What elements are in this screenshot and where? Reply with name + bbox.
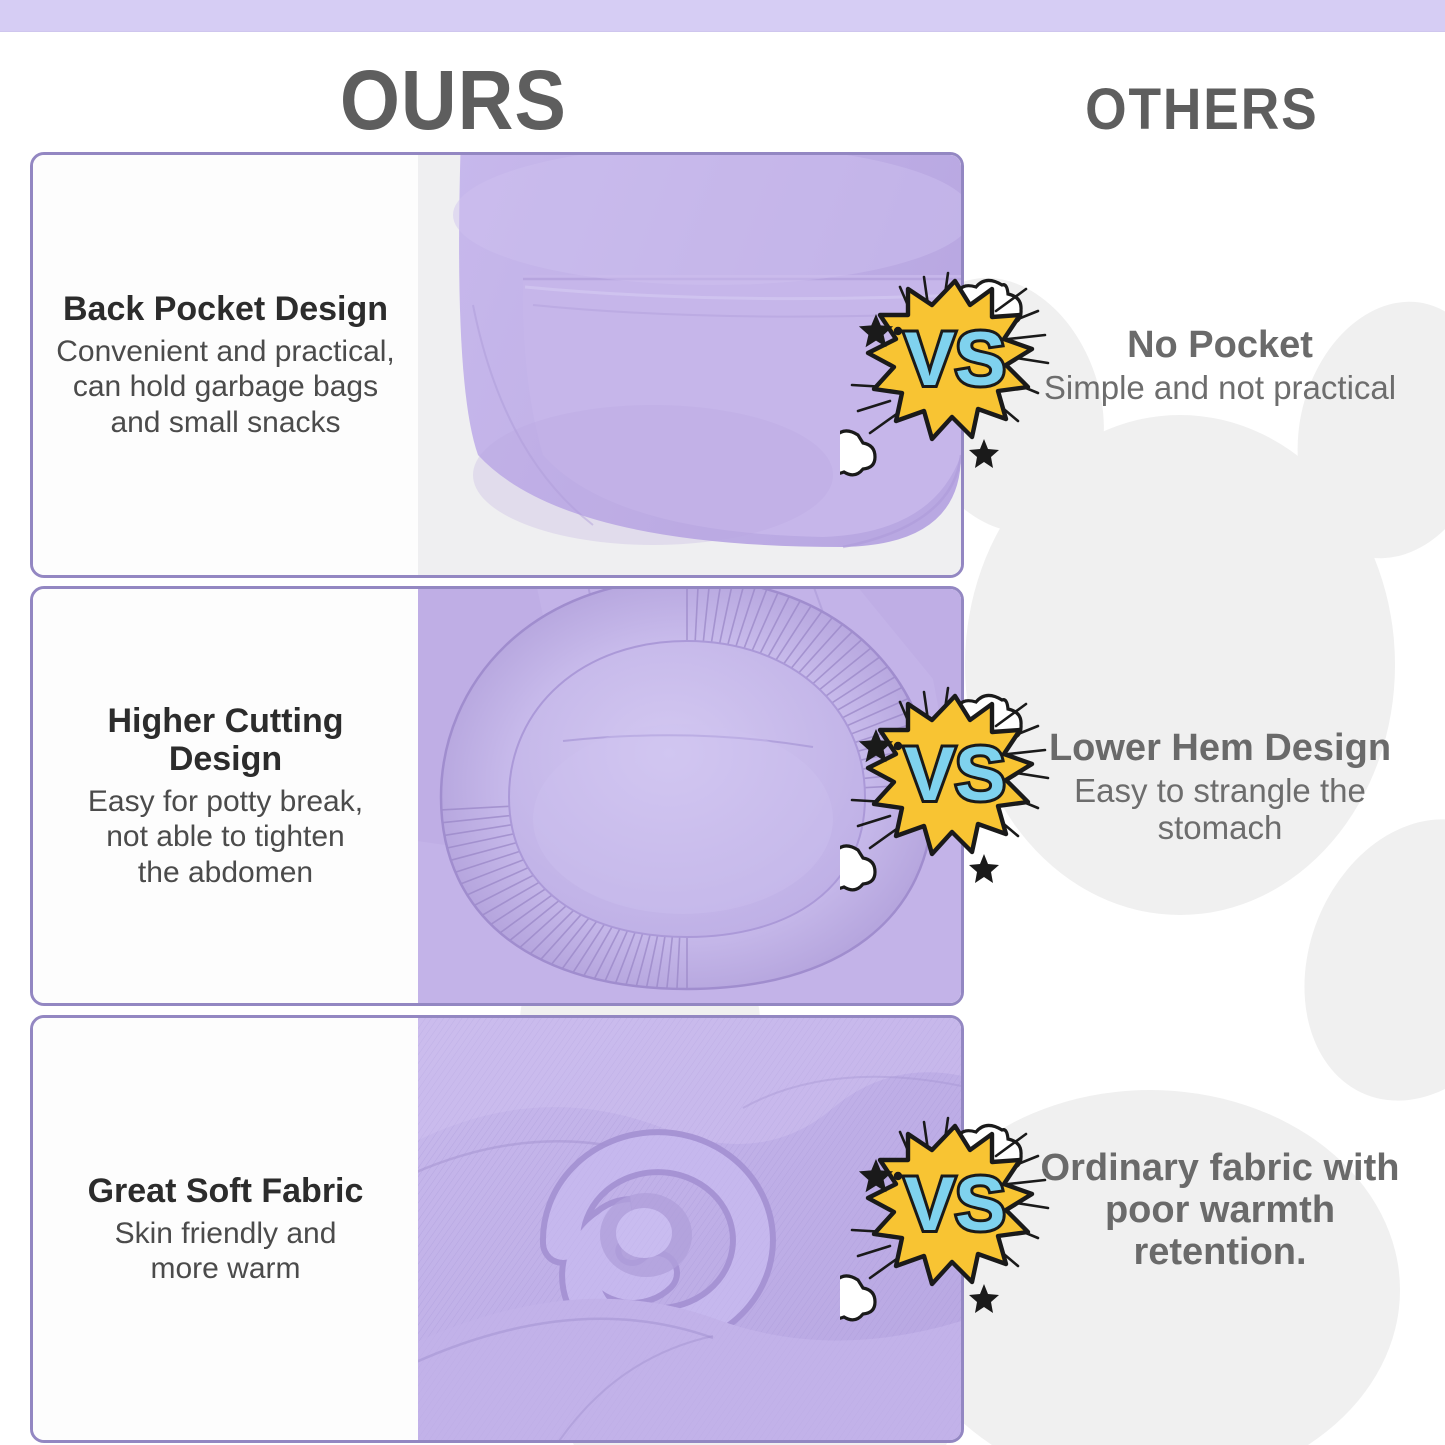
others-title-2: Lower Hem Design: [1010, 728, 1430, 770]
card-2-subtitle: Easy for potty break,not able to tighten…: [88, 784, 363, 890]
top-accent-bar: [0, 0, 1445, 32]
others-title-1: No Pocket: [1010, 325, 1430, 367]
card-3-subtitle: Skin friendly andmore warm: [115, 1216, 337, 1287]
vs-label-1: VS: [904, 317, 1005, 402]
others-subtitle-1: Simple and not practical: [1010, 369, 1430, 407]
ours-heading: OURS: [340, 52, 567, 149]
vs-burst-icon-2: VS: [840, 668, 1070, 898]
others-heading: OTHERS: [1085, 76, 1318, 143]
others-block-3: Ordinary fabric withpoor warmthretention…: [1010, 1148, 1430, 1273]
others-block-1: No Pocket Simple and not practical: [1010, 325, 1430, 406]
card-3-title: Great Soft Fabric: [88, 1172, 364, 1210]
vs-label-2: VS: [904, 732, 1005, 817]
vs-burst-icon-3: VS: [840, 1098, 1070, 1328]
comparison-card-2: Higher CuttingDesign Easy for potty brea…: [30, 586, 964, 1006]
comparison-card-3: Great Soft Fabric Skin friendly andmore …: [30, 1015, 964, 1443]
card-2-text-block: Higher CuttingDesign Easy for potty brea…: [33, 589, 418, 1003]
others-title-3: Ordinary fabric withpoor warmthretention…: [1010, 1148, 1430, 1273]
card-3-text-block: Great Soft Fabric Skin friendly andmore …: [33, 1018, 418, 1440]
vs-label-3: VS: [904, 1162, 1005, 1247]
card-1-text-block: Back Pocket Design Convenient and practi…: [33, 155, 418, 575]
card-1-subtitle: Convenient and practical,can hold garbag…: [56, 334, 395, 440]
card-1-title: Back Pocket Design: [63, 290, 388, 328]
others-subtitle-2: Easy to strangle thestomach: [1010, 772, 1430, 847]
card-2-title: Higher CuttingDesign: [107, 702, 343, 778]
others-block-2: Lower Hem Design Easy to strangle thesto…: [1010, 728, 1430, 847]
vs-burst-icon-1: VS: [840, 253, 1070, 483]
comparison-card-1: Back Pocket Design Convenient and practi…: [30, 152, 964, 578]
